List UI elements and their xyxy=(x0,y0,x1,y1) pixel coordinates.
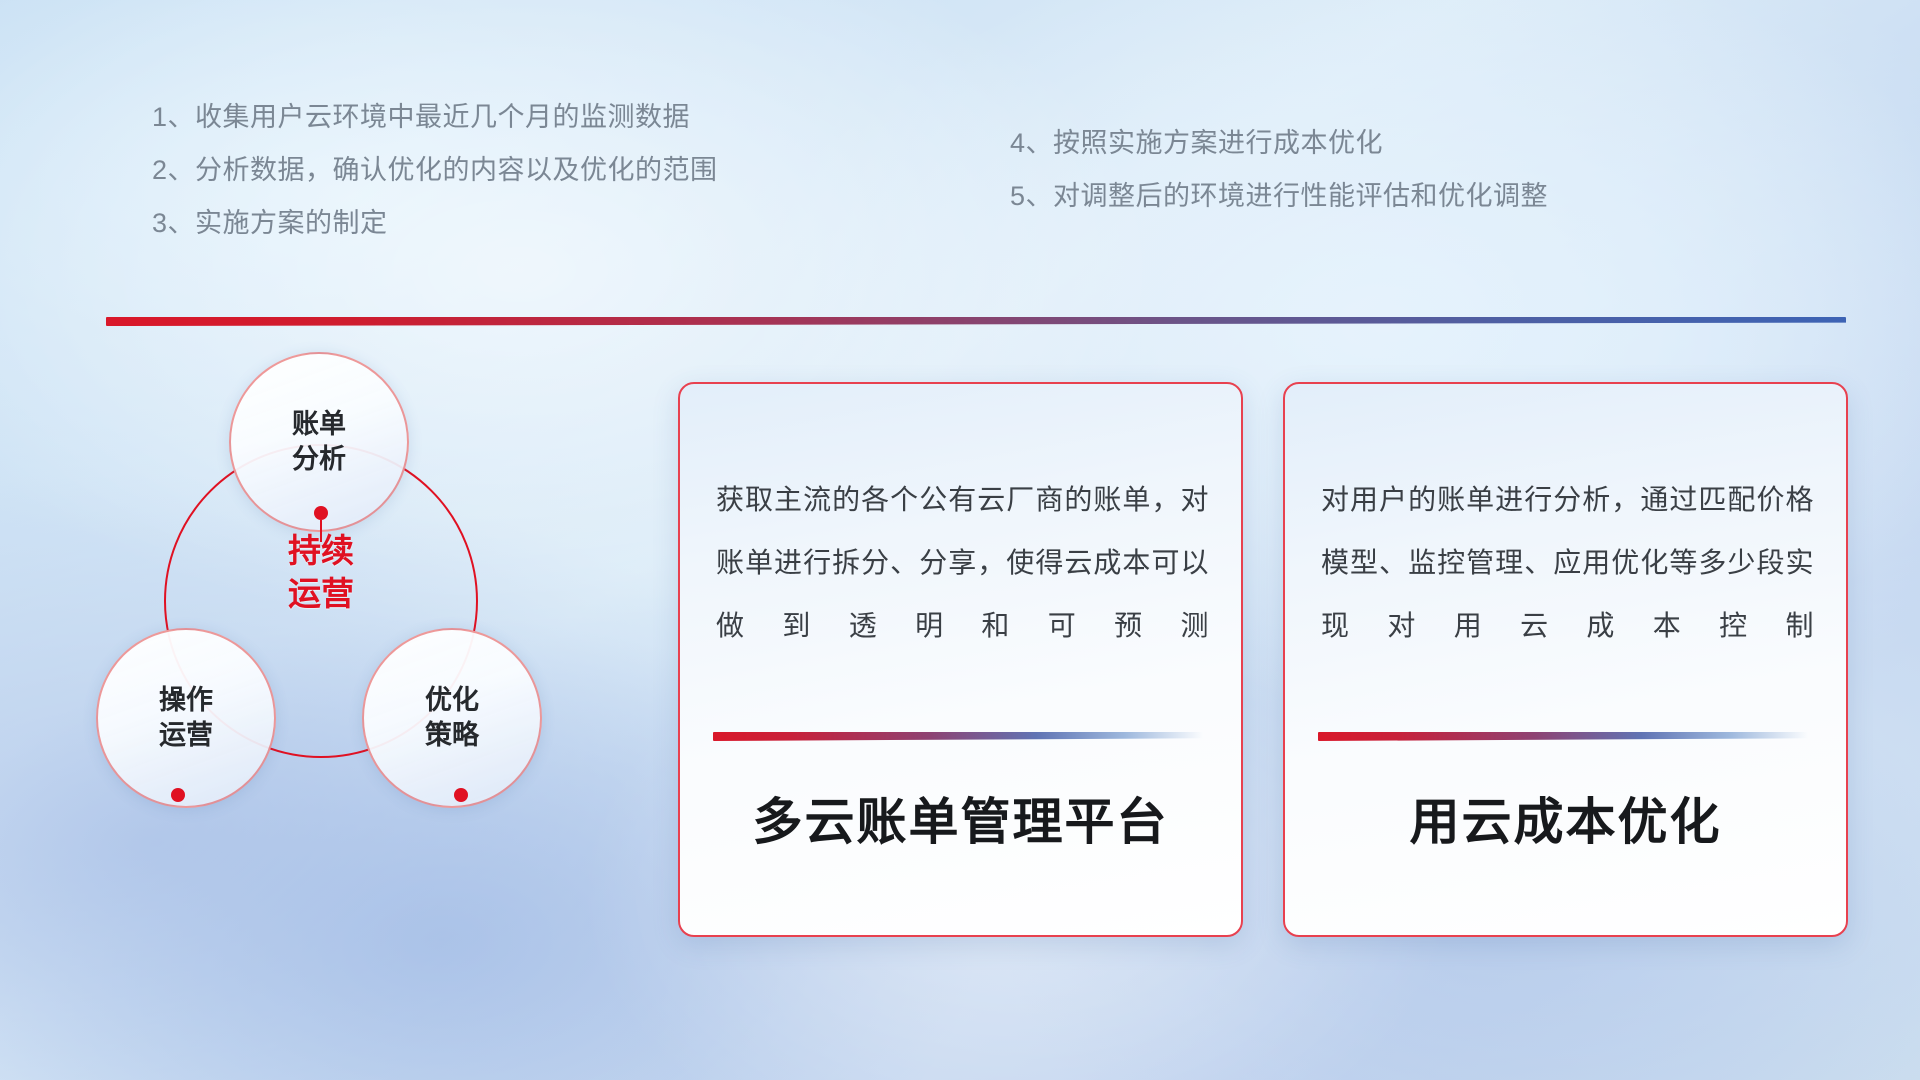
venn-bubble-label: 账单 分析 xyxy=(292,407,346,476)
steps-list-left: 1、收集用户云环境中最近几个月的监测数据 2、分析数据，确认优化的内容以及优化的… xyxy=(152,104,718,263)
card-accent-bar xyxy=(1318,732,1808,741)
venn-diagram: 账单 分析 操作 运营 优化 策略 持续 运营 xyxy=(96,352,596,942)
venn-center-label-line2: 运营 xyxy=(228,573,414,616)
venn-bubble-label: 操作 运营 xyxy=(159,683,213,752)
card-accent-rule xyxy=(713,732,1203,741)
feature-card-cost-optimization[interactable]: 对用户的账单进行分析，通过匹配价格模型、监控管理、应用优化等多少段实现对用云成本… xyxy=(1283,382,1848,937)
divider-bar xyxy=(106,317,1846,326)
venn-bubble-label-line2: 策略 xyxy=(425,718,479,753)
step-item: 3、实施方案的制定 xyxy=(152,210,718,237)
connector-dot-left xyxy=(171,788,185,802)
card-title: 用云成本优化 xyxy=(1285,782,1846,854)
venn-center-label: 持续 运营 xyxy=(228,530,414,616)
connector-dot-top xyxy=(314,506,328,520)
card-body-text: 获取主流的各个公有云厂商的账单，对账单进行拆分、分享，使得云成本可以做到透明和可… xyxy=(716,468,1209,657)
venn-bubble-operations[interactable]: 操作 运营 xyxy=(96,628,276,808)
connector-tick-top xyxy=(320,520,322,542)
feature-card-multicloud-billing[interactable]: 获取主流的各个公有云厂商的账单，对账单进行拆分、分享，使得云成本可以做到透明和可… xyxy=(678,382,1243,937)
venn-bubble-label: 优化 策略 xyxy=(425,683,479,752)
connector-dot-right xyxy=(454,788,468,802)
step-item: 1、收集用户云环境中最近几个月的监测数据 xyxy=(152,104,718,131)
card-accent-bar xyxy=(713,732,1203,741)
section-divider xyxy=(106,317,1846,326)
step-item: 4、按照实施方案进行成本优化 xyxy=(1010,130,1548,157)
venn-bubble-label-line1: 操作 xyxy=(159,683,213,718)
venn-bubble-billing-analysis[interactable]: 账单 分析 xyxy=(229,352,409,532)
venn-bubble-label-line2: 运营 xyxy=(159,718,213,753)
card-title: 多云账单管理平台 xyxy=(680,782,1241,854)
steps-list-right: 4、按照实施方案进行成本优化 5、对调整后的环境进行性能评估和优化调整 xyxy=(1010,130,1548,236)
venn-bubble-optimization-strategy[interactable]: 优化 策略 xyxy=(362,628,542,808)
step-item: 2、分析数据，确认优化的内容以及优化的范围 xyxy=(152,157,718,184)
step-item: 5、对调整后的环境进行性能评估和优化调整 xyxy=(1010,183,1548,210)
card-body-text: 对用户的账单进行分析，通过匹配价格模型、监控管理、应用优化等多少段实现对用云成本… xyxy=(1321,468,1814,657)
venn-bubble-label-line1: 优化 xyxy=(425,683,479,718)
card-accent-rule xyxy=(1318,732,1808,741)
venn-bubble-label-line2: 分析 xyxy=(292,442,346,477)
venn-bubble-label-line1: 账单 xyxy=(292,407,346,442)
